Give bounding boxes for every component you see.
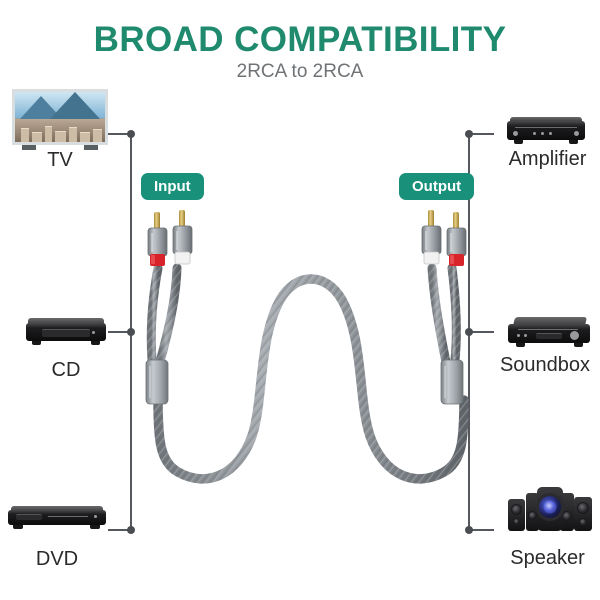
infographic-canvas: BROAD COMPATIBILITY 2RCA to 2RCA TV bbox=[0, 0, 600, 600]
right-stub-soundbox bbox=[470, 331, 494, 333]
right-node-amplifier bbox=[465, 130, 473, 138]
amplifier-icon bbox=[507, 117, 585, 143]
left-connector-leg-a bbox=[151, 268, 158, 360]
right-node-speaker bbox=[465, 526, 473, 534]
device-label-soundbox: Soundbox bbox=[490, 355, 600, 375]
badge-input: Input bbox=[141, 173, 204, 200]
right-cable-sleeve bbox=[441, 360, 463, 404]
badge-output: Output bbox=[399, 173, 474, 200]
left-cable-sleeve bbox=[146, 360, 168, 404]
right-connector-leg-a bbox=[432, 268, 446, 362]
left-node-tv bbox=[127, 130, 135, 138]
device-label-tv: TV bbox=[10, 150, 110, 170]
cd-player-icon bbox=[26, 318, 106, 344]
left-node-dvd bbox=[127, 526, 135, 534]
device-label-amplifier: Amplifier bbox=[495, 149, 600, 169]
left-connector-leg-b bbox=[160, 268, 177, 362]
device-label-speaker: Speaker bbox=[495, 548, 600, 568]
device-label-dvd: DVD bbox=[7, 549, 107, 569]
page-title: BROAD COMPATIBILITY bbox=[0, 22, 600, 57]
right-stub-speaker bbox=[470, 529, 494, 531]
page-subtitle: 2RCA to 2RCA bbox=[0, 62, 600, 81]
left-node-cd bbox=[127, 328, 135, 336]
cable-main-run bbox=[158, 279, 464, 479]
right-connector-leg-b bbox=[452, 268, 456, 360]
speaker-system-icon bbox=[508, 485, 592, 533]
rca-plug-right-red bbox=[447, 212, 466, 266]
rca-plug-left-white bbox=[173, 210, 192, 264]
rca-plug-left-red bbox=[148, 212, 167, 266]
right-stub-amplifier bbox=[470, 133, 494, 135]
right-node-soundbox bbox=[465, 328, 473, 336]
device-label-cd: CD bbox=[16, 360, 116, 380]
dvd-player-icon bbox=[8, 506, 106, 530]
soundbox-icon bbox=[508, 317, 590, 347]
television-icon bbox=[12, 89, 108, 145]
rca-plug-right-white bbox=[422, 210, 441, 264]
